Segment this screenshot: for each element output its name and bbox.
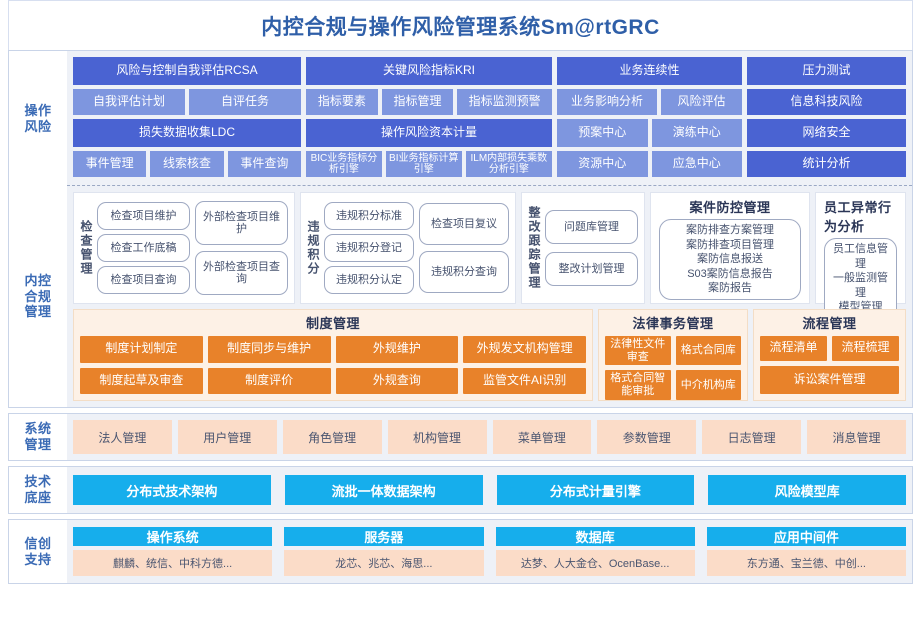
band-label-internal-control: 内控 合规 管理 — [9, 186, 67, 407]
menu-item-process-0[interactable]: 流程清单 — [760, 336, 827, 361]
menu-item-system-7[interactable]: 消息管理 — [807, 420, 906, 454]
menu-item-kri-0[interactable]: 指标要素 — [306, 89, 378, 115]
band-label-line-2: 合规 — [24, 289, 51, 305]
band-label-system-management: 系统 管理 — [9, 414, 67, 460]
menu-item-check-2[interactable]: 检查项目查询 — [97, 266, 190, 294]
xinchuang-header-2[interactable]: 数据库 — [496, 527, 695, 546]
menu-item-policy-1[interactable]: 制度起草及审查 — [80, 368, 203, 395]
group-title-policy-management: 制度管理 — [306, 313, 360, 332]
menu-item-continuity-4[interactable]: 资源中心 — [557, 151, 648, 177]
group-title-process-management: 流程管理 — [802, 313, 856, 332]
policy-col-4: 外规发文机构管理 监管文件AI识别 — [463, 336, 586, 394]
band-label-line-2: 支持 — [24, 552, 51, 568]
menu-item-policy-3[interactable]: 制度评价 — [208, 368, 331, 395]
menu-item-continuity-0[interactable]: 业务影响分析 — [557, 89, 657, 115]
group-rcsa-ldc: 风险与控制自我评估RCSA 自我评估计划 自评任务 损失数据收集LDC 事件管理… — [73, 57, 301, 177]
panel-employee-behavior: 员工异常行为分析 员工信息管理 一般监测管理 模型管理 标签体系管理 从业人员行… — [815, 192, 906, 304]
menu-item-statistics[interactable]: 统计分析 — [747, 151, 906, 177]
menu-item-continuity-3[interactable]: 演练中心 — [652, 119, 743, 147]
menu-item-policy-6[interactable]: 外规发文机构管理 — [463, 336, 586, 363]
legal-affairs-grid: 法律性文件审查 格式合同智能审批 格式合同库 中介机构库 — [605, 336, 741, 400]
menu-item-employee-1: 一般监测管理 — [833, 271, 888, 300]
menu-item-violation-0[interactable]: 违规积分标准 — [324, 202, 414, 230]
panel-rectification: 整改跟踪管理 问题库管理 整改计划管理 — [521, 192, 645, 304]
panel-vlabel-violation-points: 违规积分 — [307, 220, 319, 276]
band-label-operation-risk: 操作 风险 — [9, 51, 67, 186]
group-header-rcsa[interactable]: 风险与控制自我评估RCSA — [73, 57, 301, 85]
architecture-diagram: 内控合规与操作风险管理系统Sm@rtGRC 操作 风险 风险与控制自我评估RCS… — [0, 0, 921, 640]
menu-item-tech-0[interactable]: 分布式技术架构 — [73, 475, 271, 505]
group-process-management: 流程管理 流程清单 流程梳理 诉讼案件管理 — [753, 309, 906, 401]
menu-item-tech-1[interactable]: 流批一体数据架构 — [285, 475, 483, 505]
menu-item-legal-3[interactable]: 中介机构库 — [676, 370, 742, 399]
menu-item-legal-1[interactable]: 格式合同智能审批 — [605, 370, 671, 399]
menu-item-check-1[interactable]: 检查工作底稿 — [97, 234, 190, 262]
menu-item-case-0: 案防排查方案管理 — [668, 223, 792, 238]
menu-item-stress-test[interactable]: 压力测试 — [747, 57, 906, 85]
xinchuang-vendors-1: 龙芯、兆芯、海思... — [284, 550, 483, 576]
menu-item-rectification-1[interactable]: 整改计划管理 — [545, 252, 638, 286]
process-management-grid: 流程清单 流程梳理 诉讼案件管理 — [760, 336, 899, 394]
policy-col-1: 制度计划制定 制度起草及审查 — [80, 336, 203, 394]
policy-col-2: 制度同步与维护 制度评价 — [208, 336, 331, 394]
band-tech-base: 技术 底座 分布式技术架构 流批一体数据架构 分布式计量引擎 风险模型库 — [8, 466, 913, 514]
panel-vlabel-check-management: 检查管理 — [80, 220, 92, 276]
internal-control-body: 检查管理 检查项目维护 检查工作底稿 检查项目查询 外部检查项目维护 外部检查项… — [67, 186, 912, 407]
menu-item-ext-check-1[interactable]: 外部检查项目查询 — [195, 251, 288, 295]
xinchuang-body: 操作系统 麒麟、统信、中科方德... 服务器 龙芯、兆芯、海思... 数据库 达… — [67, 520, 912, 583]
band-xinchuang-support: 信创 支持 操作系统 麒麟、统信、中科方德... 服务器 龙芯、兆芯、海思...… — [8, 519, 913, 584]
band-label-line-3: 管理 — [24, 304, 51, 320]
panel-violation-points: 违规积分 违规积分标准 违规积分登记 违规积分认定 检查项目复议 违规积分查询 — [300, 192, 516, 304]
menu-item-capital-0[interactable]: BIC业务指标分析引擎 — [306, 151, 382, 177]
continuity-row-1: 业务影响分析 风险评估 — [557, 89, 742, 115]
menu-item-continuity-5[interactable]: 应急中心 — [652, 151, 743, 177]
menu-item-ldc-1[interactable]: 线索核查 — [150, 151, 223, 177]
page-title-bar: 内控合规与操作风险管理系统Sm@rtGRC — [8, 0, 913, 50]
xinchuang-vendors-2: 达梦、人大金仓、OcenBase... — [496, 550, 695, 576]
band-label-tech-base: 技术 底座 — [9, 467, 67, 513]
menu-item-capital-1[interactable]: BI业务指标计算引擎 — [386, 151, 462, 177]
policy-management-grid: 制度计划制定 制度起草及审查 制度同步与维护 制度评价 外规维护 外规查询 — [80, 336, 586, 394]
band-label-line-2: 底座 — [24, 490, 51, 506]
page-title: 内控合规与操作风险管理系统Sm@rtGRC — [261, 11, 660, 41]
menu-item-case-1: 案防排查项目管理 — [668, 238, 792, 253]
internal-control-upper-row: 检查管理 检查项目维护 检查工作底稿 检查项目查询 外部检查项目维护 外部检查项… — [73, 192, 906, 304]
band-operation-risk: 操作 风险 风险与控制自我评估RCSA 自我评估计划 自评任务 损失数据收集LD… — [8, 50, 913, 186]
panel-title-case-prevention: 案件防控管理 — [689, 197, 770, 216]
menu-item-legal-2[interactable]: 格式合同库 — [676, 336, 742, 365]
xinchuang-vendors-3: 东方通、宝兰德、中创... — [707, 550, 906, 576]
case-prevention-items[interactable]: 案防排查方案管理 案防排查项目管理 案防信息报送 S03案防信息报告 案防报告 — [659, 219, 801, 300]
xinchuang-vendors-0: 麒麟、统信、中科方德... — [73, 550, 272, 576]
menu-item-ext-check-0[interactable]: 外部检查项目维护 — [195, 201, 288, 245]
xinchuang-column-1: 服务器 龙芯、兆芯、海思... — [284, 527, 483, 576]
group-right-stack: 压力测试 信息科技风险 网络安全 统计分析 — [747, 57, 906, 177]
violation-points-col-2: 检查项目复议 违规积分查询 — [419, 203, 509, 293]
menu-item-system-1[interactable]: 用户管理 — [178, 420, 277, 454]
group-kri-capital: 关键风险指标KRI 指标要素 指标管理 指标监测预警 操作风险资本计量 BIC业… — [306, 57, 552, 177]
rectification-items: 问题库管理 整改计划管理 — [545, 210, 638, 286]
menu-item-kri-2[interactable]: 指标监测预警 — [457, 89, 552, 115]
menu-item-system-5[interactable]: 参数管理 — [597, 420, 696, 454]
group-policy-management: 制度管理 制度计划制定 制度起草及审查 制度同步与维护 制度评价 外规维护 外规 — [73, 309, 593, 401]
menu-item-case-3: S03案防信息报告 — [668, 267, 792, 282]
continuity-row-3: 资源中心 应急中心 — [557, 151, 742, 177]
band-system-management: 系统 管理 法人管理 用户管理 角色管理 机构管理 菜单管理 参数管理 日志管理… — [8, 413, 913, 461]
menu-item-policy-4[interactable]: 外规维护 — [336, 336, 459, 363]
menu-item-check-0[interactable]: 检查项目维护 — [97, 202, 190, 230]
group-continuity: 业务连续性 业务影响分析 风险评估 预案中心 演练中心 资源中心 应急中心 — [557, 57, 742, 177]
menu-item-tech-2[interactable]: 分布式计量引擎 — [497, 475, 695, 505]
menu-item-kri-1[interactable]: 指标管理 — [382, 89, 454, 115]
check-management-col-2: 外部检查项目维护 外部检查项目查询 — [195, 201, 288, 295]
menu-item-tech-3[interactable]: 风险模型库 — [708, 475, 906, 505]
internal-control-lower-row: 制度管理 制度计划制定 制度起草及审查 制度同步与维护 制度评价 外规维护 外规 — [73, 309, 906, 401]
band-label-line-2: 风险 — [24, 119, 51, 135]
band-label-line-1: 系统 — [24, 421, 51, 437]
menu-item-system-0[interactable]: 法人管理 — [73, 420, 172, 454]
policy-col-3: 外规维护 外规查询 — [336, 336, 459, 394]
menu-item-system-3[interactable]: 机构管理 — [388, 420, 487, 454]
xinchuang-column-2: 数据库 达梦、人大金仓、OcenBase... — [496, 527, 695, 576]
menu-item-violation-2[interactable]: 违规积分认定 — [324, 266, 414, 294]
kri-items: 指标要素 指标管理 指标监测预警 — [306, 89, 552, 115]
band-label-line-1: 内控 — [24, 273, 51, 289]
menu-item-case-2: 案防信息报送 — [668, 252, 792, 267]
menu-item-policy-7[interactable]: 监管文件AI识别 — [463, 368, 586, 395]
menu-item-rcsa-0[interactable]: 自我评估计划 — [73, 89, 185, 115]
menu-item-capital-2[interactable]: ILM内部损失乘数分析引擎 — [466, 151, 552, 177]
menu-item-rcsa-1[interactable]: 自评任务 — [189, 89, 301, 115]
menu-item-process-2[interactable]: 诉讼案件管理 — [760, 366, 899, 395]
band-internal-control: 内控 合规 管理 检查管理 检查项目维护 检查工作底稿 检查项目查询 外部检查项… — [8, 186, 913, 408]
xinchuang-column-0: 操作系统 麒麟、统信、中科方德... — [73, 527, 272, 576]
menu-item-it-risk[interactable]: 信息科技风险 — [747, 89, 906, 115]
check-management-col-1: 检查项目维护 检查工作底稿 检查项目查询 — [97, 202, 190, 294]
panel-check-management: 检查管理 检查项目维护 检查工作底稿 检查项目查询 外部检查项目维护 外部检查项… — [73, 192, 295, 304]
group-header-ldc[interactable]: 损失数据收集LDC — [73, 119, 301, 147]
menu-item-network-security[interactable]: 网络安全 — [747, 119, 906, 147]
violation-points-col-1: 违规积分标准 违规积分登记 违规积分认定 — [324, 202, 414, 294]
legal-col-1: 法律性文件审查 格式合同智能审批 — [605, 336, 671, 400]
band-label-line-1: 技术 — [24, 474, 51, 490]
menu-item-ldc-2[interactable]: 事件查询 — [228, 151, 301, 177]
menu-item-policy-2[interactable]: 制度同步与维护 — [208, 336, 331, 363]
rcsa-items: 自我评估计划 自评任务 — [73, 89, 301, 115]
operation-risk-body: 风险与控制自我评估RCSA 自我评估计划 自评任务 损失数据收集LDC 事件管理… — [67, 51, 912, 186]
tech-base-body: 分布式技术架构 流批一体数据架构 分布式计量引擎 风险模型库 — [67, 467, 912, 513]
menu-item-system-6[interactable]: 日志管理 — [702, 420, 801, 454]
menu-item-case-4: 案防报告 — [668, 281, 792, 296]
menu-item-continuity-1[interactable]: 风险评估 — [661, 89, 742, 115]
panel-case-prevention: 案件防控管理 案防排查方案管理 案防排查项目管理 案防信息报送 S03案防信息报… — [650, 192, 810, 304]
capital-items: BIC业务指标分析引擎 BI业务指标计算引擎 ILM内部损失乘数分析引擎 — [306, 151, 552, 177]
menu-item-system-2[interactable]: 角色管理 — [283, 420, 382, 454]
group-header-kri[interactable]: 关键风险指标KRI — [306, 57, 552, 85]
menu-item-review-1[interactable]: 违规积分查询 — [419, 251, 509, 293]
menu-item-policy-0[interactable]: 制度计划制定 — [80, 336, 203, 363]
menu-item-ldc-0[interactable]: 事件管理 — [73, 151, 146, 177]
continuity-row-2: 预案中心 演练中心 — [557, 119, 742, 147]
band-label-line-1: 信创 — [24, 536, 51, 552]
xinchuang-header-0[interactable]: 操作系统 — [73, 527, 272, 546]
menu-item-legal-0[interactable]: 法律性文件审查 — [605, 336, 671, 365]
menu-item-violation-1[interactable]: 违规积分登记 — [324, 234, 414, 262]
group-header-continuity[interactable]: 业务连续性 — [557, 57, 742, 85]
legal-col-2: 格式合同库 中介机构库 — [676, 336, 742, 400]
menu-item-process-1[interactable]: 流程梳理 — [832, 336, 899, 361]
menu-item-continuity-2[interactable]: 预案中心 — [557, 119, 648, 147]
process-row-1: 流程清单 流程梳理 — [760, 336, 899, 361]
group-title-legal-affairs: 法律事务管理 — [632, 313, 713, 332]
panel-title-employee-behavior: 员工异常行为分析 — [824, 197, 897, 235]
xinchuang-column-3: 应用中间件 东方通、宝兰德、中创... — [707, 527, 906, 576]
menu-item-rectification-0[interactable]: 问题库管理 — [545, 210, 638, 244]
menu-item-employee-0: 员工信息管理 — [833, 242, 888, 271]
menu-item-review-0[interactable]: 检查项目复议 — [419, 203, 509, 245]
band-label-line-2: 管理 — [24, 437, 51, 453]
panel-vlabel-rectification: 整改跟踪管理 — [528, 206, 540, 290]
system-management-body: 法人管理 用户管理 角色管理 机构管理 菜单管理 参数管理 日志管理 消息管理 — [67, 414, 912, 460]
menu-item-policy-5[interactable]: 外规查询 — [336, 368, 459, 395]
group-legal-affairs: 法律事务管理 法律性文件审查 格式合同智能审批 格式合同库 中介机构库 — [598, 309, 748, 401]
xinchuang-header-1[interactable]: 服务器 — [284, 527, 483, 546]
ldc-items: 事件管理 线索核查 事件查询 — [73, 151, 301, 177]
xinchuang-header-3[interactable]: 应用中间件 — [707, 527, 906, 546]
band-label-xinchuang: 信创 支持 — [9, 520, 67, 583]
menu-item-system-4[interactable]: 菜单管理 — [493, 420, 592, 454]
group-header-capital[interactable]: 操作风险资本计量 — [306, 119, 552, 147]
band-label-line-1: 操作 — [24, 103, 51, 119]
